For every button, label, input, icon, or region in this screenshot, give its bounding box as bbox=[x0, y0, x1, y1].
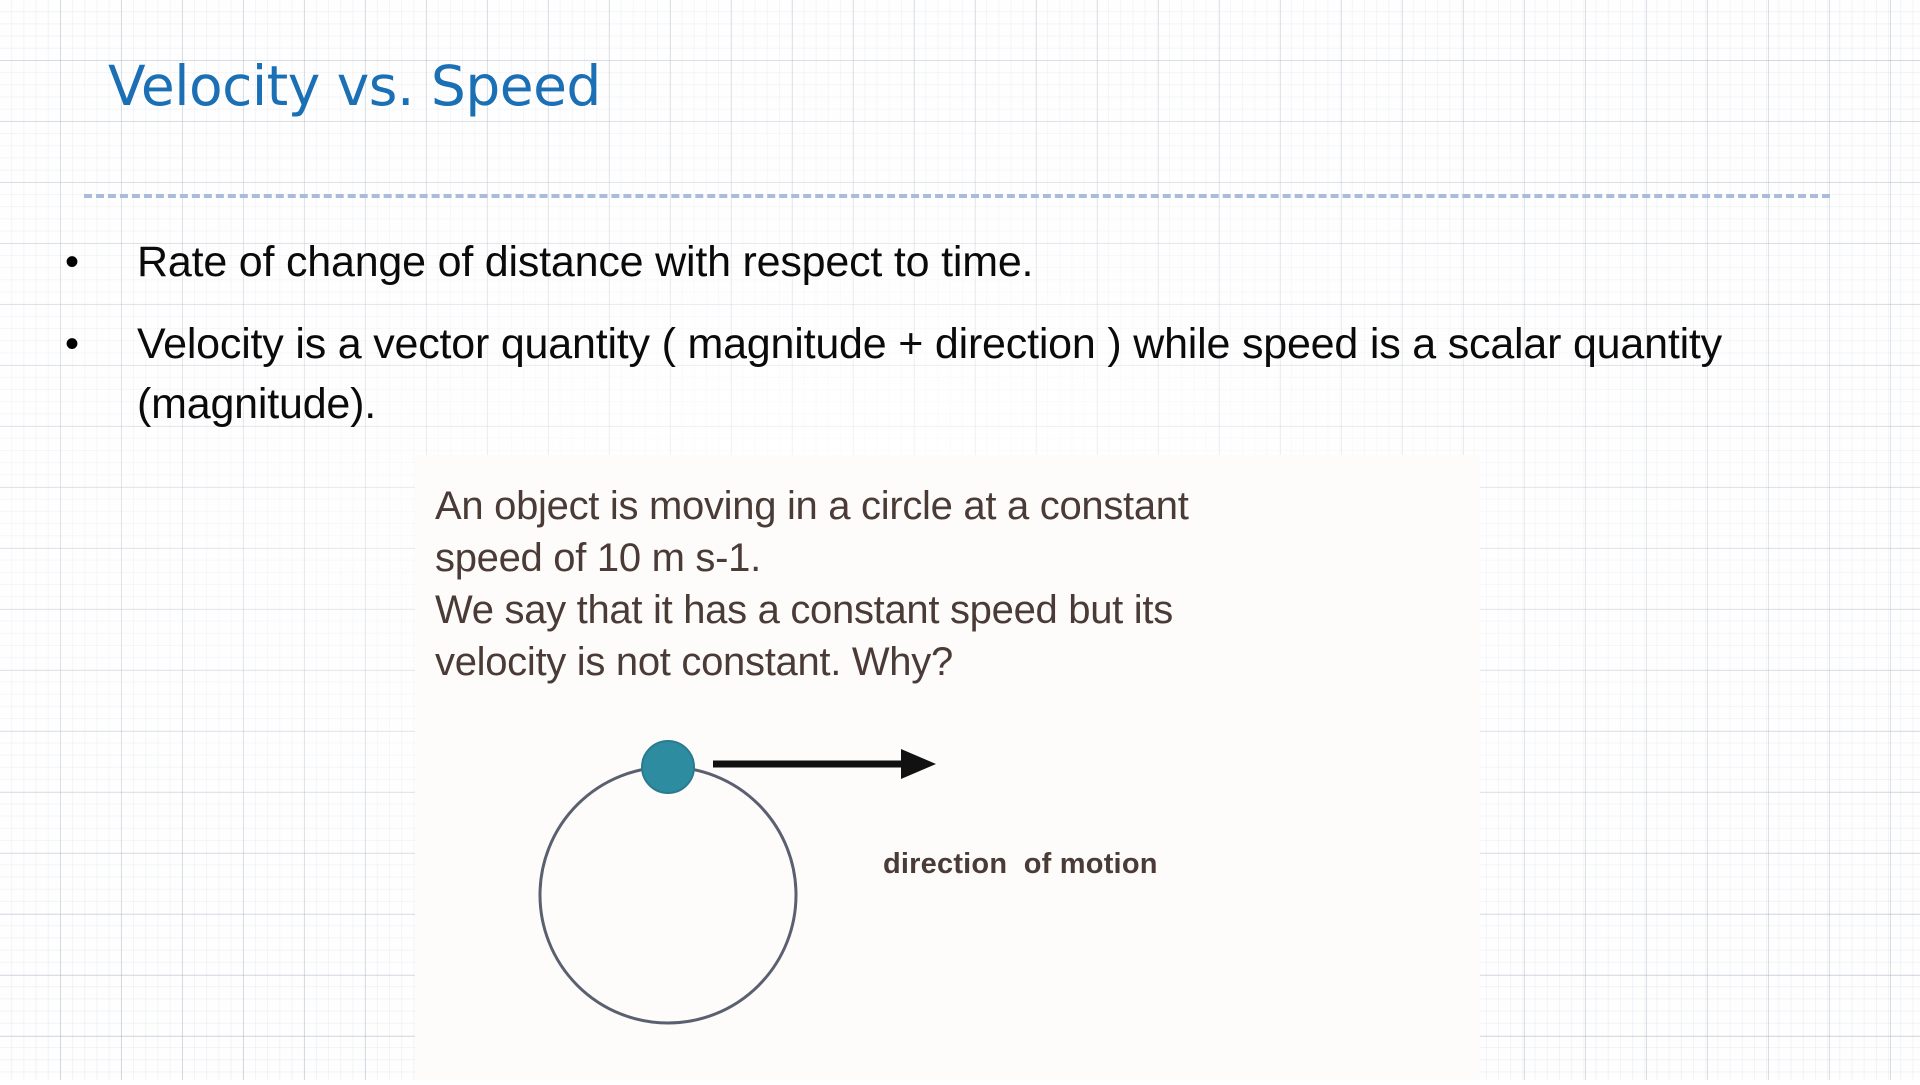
bullet-text: Velocity is a vector quantity ( magnitud… bbox=[137, 314, 1836, 434]
embedded-figure: An object is moving in a circle at a con… bbox=[415, 455, 1480, 1080]
orbit-circle-icon bbox=[540, 767, 796, 1023]
particle-dot-icon bbox=[642, 741, 694, 793]
figure-text-line: An object is moving in a circle at a con… bbox=[435, 480, 1465, 532]
direction-of-motion-label: direction of motion bbox=[883, 848, 1158, 881]
bullet-marker-icon: • bbox=[56, 232, 137, 292]
bullet-marker-icon: • bbox=[56, 314, 137, 374]
title-block: Velocity vs. Speed bbox=[108, 56, 1808, 117]
bullet-list: • Rate of change of distance with respec… bbox=[56, 232, 1836, 456]
bullet-text: Rate of change of distance with respect … bbox=[137, 232, 1836, 292]
circular-motion-diagram: direction of motion bbox=[415, 630, 1480, 1080]
title-divider bbox=[84, 194, 1830, 198]
page-title: Velocity vs. Speed bbox=[108, 56, 1808, 117]
list-item: • Velocity is a vector quantity ( magnit… bbox=[56, 314, 1836, 434]
direction-arrow-head-icon bbox=[901, 749, 936, 779]
list-item: • Rate of change of distance with respec… bbox=[56, 232, 1836, 292]
figure-text-line: speed of 10 m s-1. bbox=[435, 532, 1465, 584]
figure-text-line: We say that it has a constant speed but … bbox=[435, 584, 1465, 636]
slide-canvas: Velocity vs. Speed • Rate of change of d… bbox=[0, 0, 1920, 1080]
